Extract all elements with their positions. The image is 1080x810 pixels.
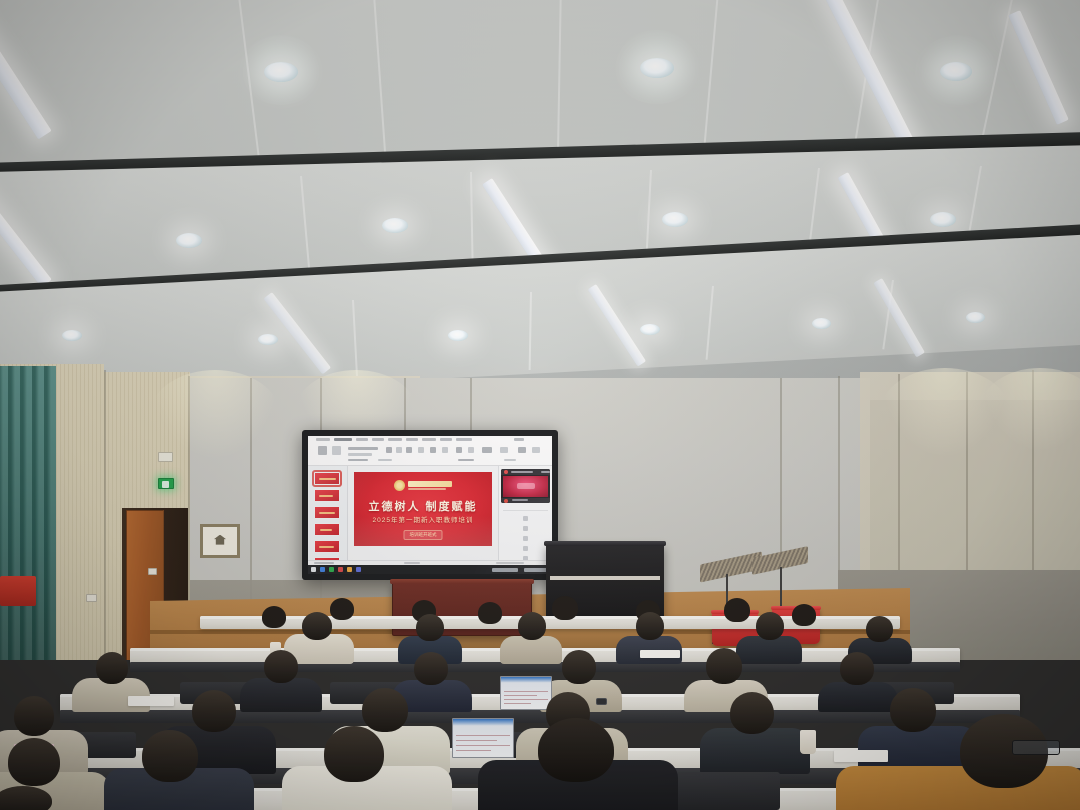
open-laptop[interactable] xyxy=(452,718,514,758)
ceiling-downlight xyxy=(940,62,972,81)
attendee-head xyxy=(730,692,774,734)
attendee-head xyxy=(538,718,614,782)
slide-footer-badge: 培训班开班式 xyxy=(404,530,443,540)
attendee-body xyxy=(818,682,898,712)
attendee-head xyxy=(302,612,332,640)
attendee-head xyxy=(518,612,546,640)
live-status-dot xyxy=(504,470,508,474)
attendee-head xyxy=(562,650,596,684)
slide-thumbnail[interactable] xyxy=(314,540,340,553)
meeting-video-feed[interactable] xyxy=(503,476,548,497)
piano-keyboard xyxy=(550,576,660,580)
attendee-head xyxy=(264,650,298,683)
start-button[interactable] xyxy=(311,567,316,572)
clock[interactable] xyxy=(524,568,548,572)
travel-mug xyxy=(800,730,816,754)
slide-thumbnail[interactable] xyxy=(314,523,340,536)
panel-icon[interactable] xyxy=(523,546,528,551)
lectern-top xyxy=(390,579,534,584)
panel-icon[interactable] xyxy=(523,516,528,521)
ceiling-downlight xyxy=(812,318,831,329)
ceiling-downlight xyxy=(176,233,202,248)
attendee-body xyxy=(700,728,810,774)
attendee-body xyxy=(736,636,802,664)
taskbar-app-icon[interactable] xyxy=(320,567,325,572)
meeting-toolbar[interactable] xyxy=(501,498,550,503)
piano-lid xyxy=(544,541,666,546)
ceiling-downlight xyxy=(930,212,956,227)
taskbar-app-icon[interactable] xyxy=(356,567,361,572)
attendee-head xyxy=(890,688,936,732)
attendee-head xyxy=(192,690,236,732)
attendee-head xyxy=(262,606,286,628)
attendee-body xyxy=(240,678,322,712)
presentation-slide[interactable]: 立德树人 制度赋能 2025年第一期新入职教师培训 培训班开班式 xyxy=(354,472,492,546)
slide-thumbnail[interactable] xyxy=(314,472,340,485)
powerpoint-ribbon[interactable] xyxy=(308,436,552,466)
attendee-head xyxy=(14,696,54,736)
taskbar-app-icon[interactable] xyxy=(329,567,334,572)
emergency-light-fixture xyxy=(158,452,173,462)
audience-seating: PARALLEL xyxy=(0,590,1080,810)
slide-title: 立德树人 制度赋能 xyxy=(354,498,492,514)
slide-thumbnail[interactable] xyxy=(314,506,340,519)
attendee-head xyxy=(96,652,128,684)
attendee-head xyxy=(866,616,893,642)
attendee-head xyxy=(478,602,502,624)
panel-icon[interactable] xyxy=(523,526,528,531)
attendee-head xyxy=(8,738,60,786)
attendee-head xyxy=(840,652,874,685)
seal-icon xyxy=(394,480,405,491)
slide-thumbnail-panel[interactable] xyxy=(308,466,348,560)
meeting-titlebar xyxy=(501,469,550,475)
attendee-head xyxy=(756,612,784,640)
ceiling-downlight xyxy=(264,62,298,82)
smartphone[interactable] xyxy=(596,698,607,705)
attendee-head xyxy=(416,614,444,641)
system-tray[interactable] xyxy=(492,568,518,572)
attendee-body xyxy=(836,766,1080,810)
eyeglasses xyxy=(1012,740,1060,755)
meeting-window[interactable] xyxy=(501,469,550,503)
slide-thumbnail[interactable] xyxy=(314,489,340,502)
attendee-head xyxy=(414,652,448,685)
ceiling-downlight xyxy=(966,312,985,323)
ribbon-tab-row[interactable] xyxy=(308,436,552,443)
light-switch[interactable] xyxy=(148,568,157,575)
attendee-head xyxy=(552,596,578,620)
panel-icon[interactable] xyxy=(523,536,528,541)
attendee-head xyxy=(724,598,750,622)
emergency-exit-sign xyxy=(158,478,174,489)
attendee-head xyxy=(706,648,742,684)
video-conference-panel[interactable] xyxy=(498,466,552,560)
attendee-head xyxy=(362,688,408,732)
attendee-head xyxy=(330,598,354,620)
ceiling-downlight xyxy=(662,212,688,227)
taskbar-app-icon[interactable] xyxy=(338,567,343,572)
attendee-head xyxy=(324,726,384,782)
ceiling-downlight xyxy=(640,58,674,78)
led-display-screen[interactable]: 立德树人 制度赋能 2025年第一期新入职教师培训 培训班开班式 xyxy=(308,436,552,574)
ceiling-downlight xyxy=(382,218,408,233)
taskbar-app-icon[interactable] xyxy=(347,567,352,572)
university-seal-logo xyxy=(394,480,452,491)
windows-taskbar[interactable] xyxy=(308,565,552,574)
slide-subtitle: 2025年第一期新入职教师培训 xyxy=(354,514,492,524)
attendee-head xyxy=(636,612,664,640)
attendee-body xyxy=(500,636,562,664)
attendee-head xyxy=(142,730,198,782)
lecture-hall-photo: 立德树人 制度赋能 2025年第一期新入职教师培训 培训班开班式 xyxy=(0,0,1080,810)
open-laptop[interactable] xyxy=(500,676,552,710)
framed-evacuation-notice xyxy=(200,524,240,558)
attendee-head xyxy=(792,604,816,626)
led-display-frame: 立德树人 制度赋能 2025年第一期新入职教师培训 培训班开班式 xyxy=(302,430,558,580)
